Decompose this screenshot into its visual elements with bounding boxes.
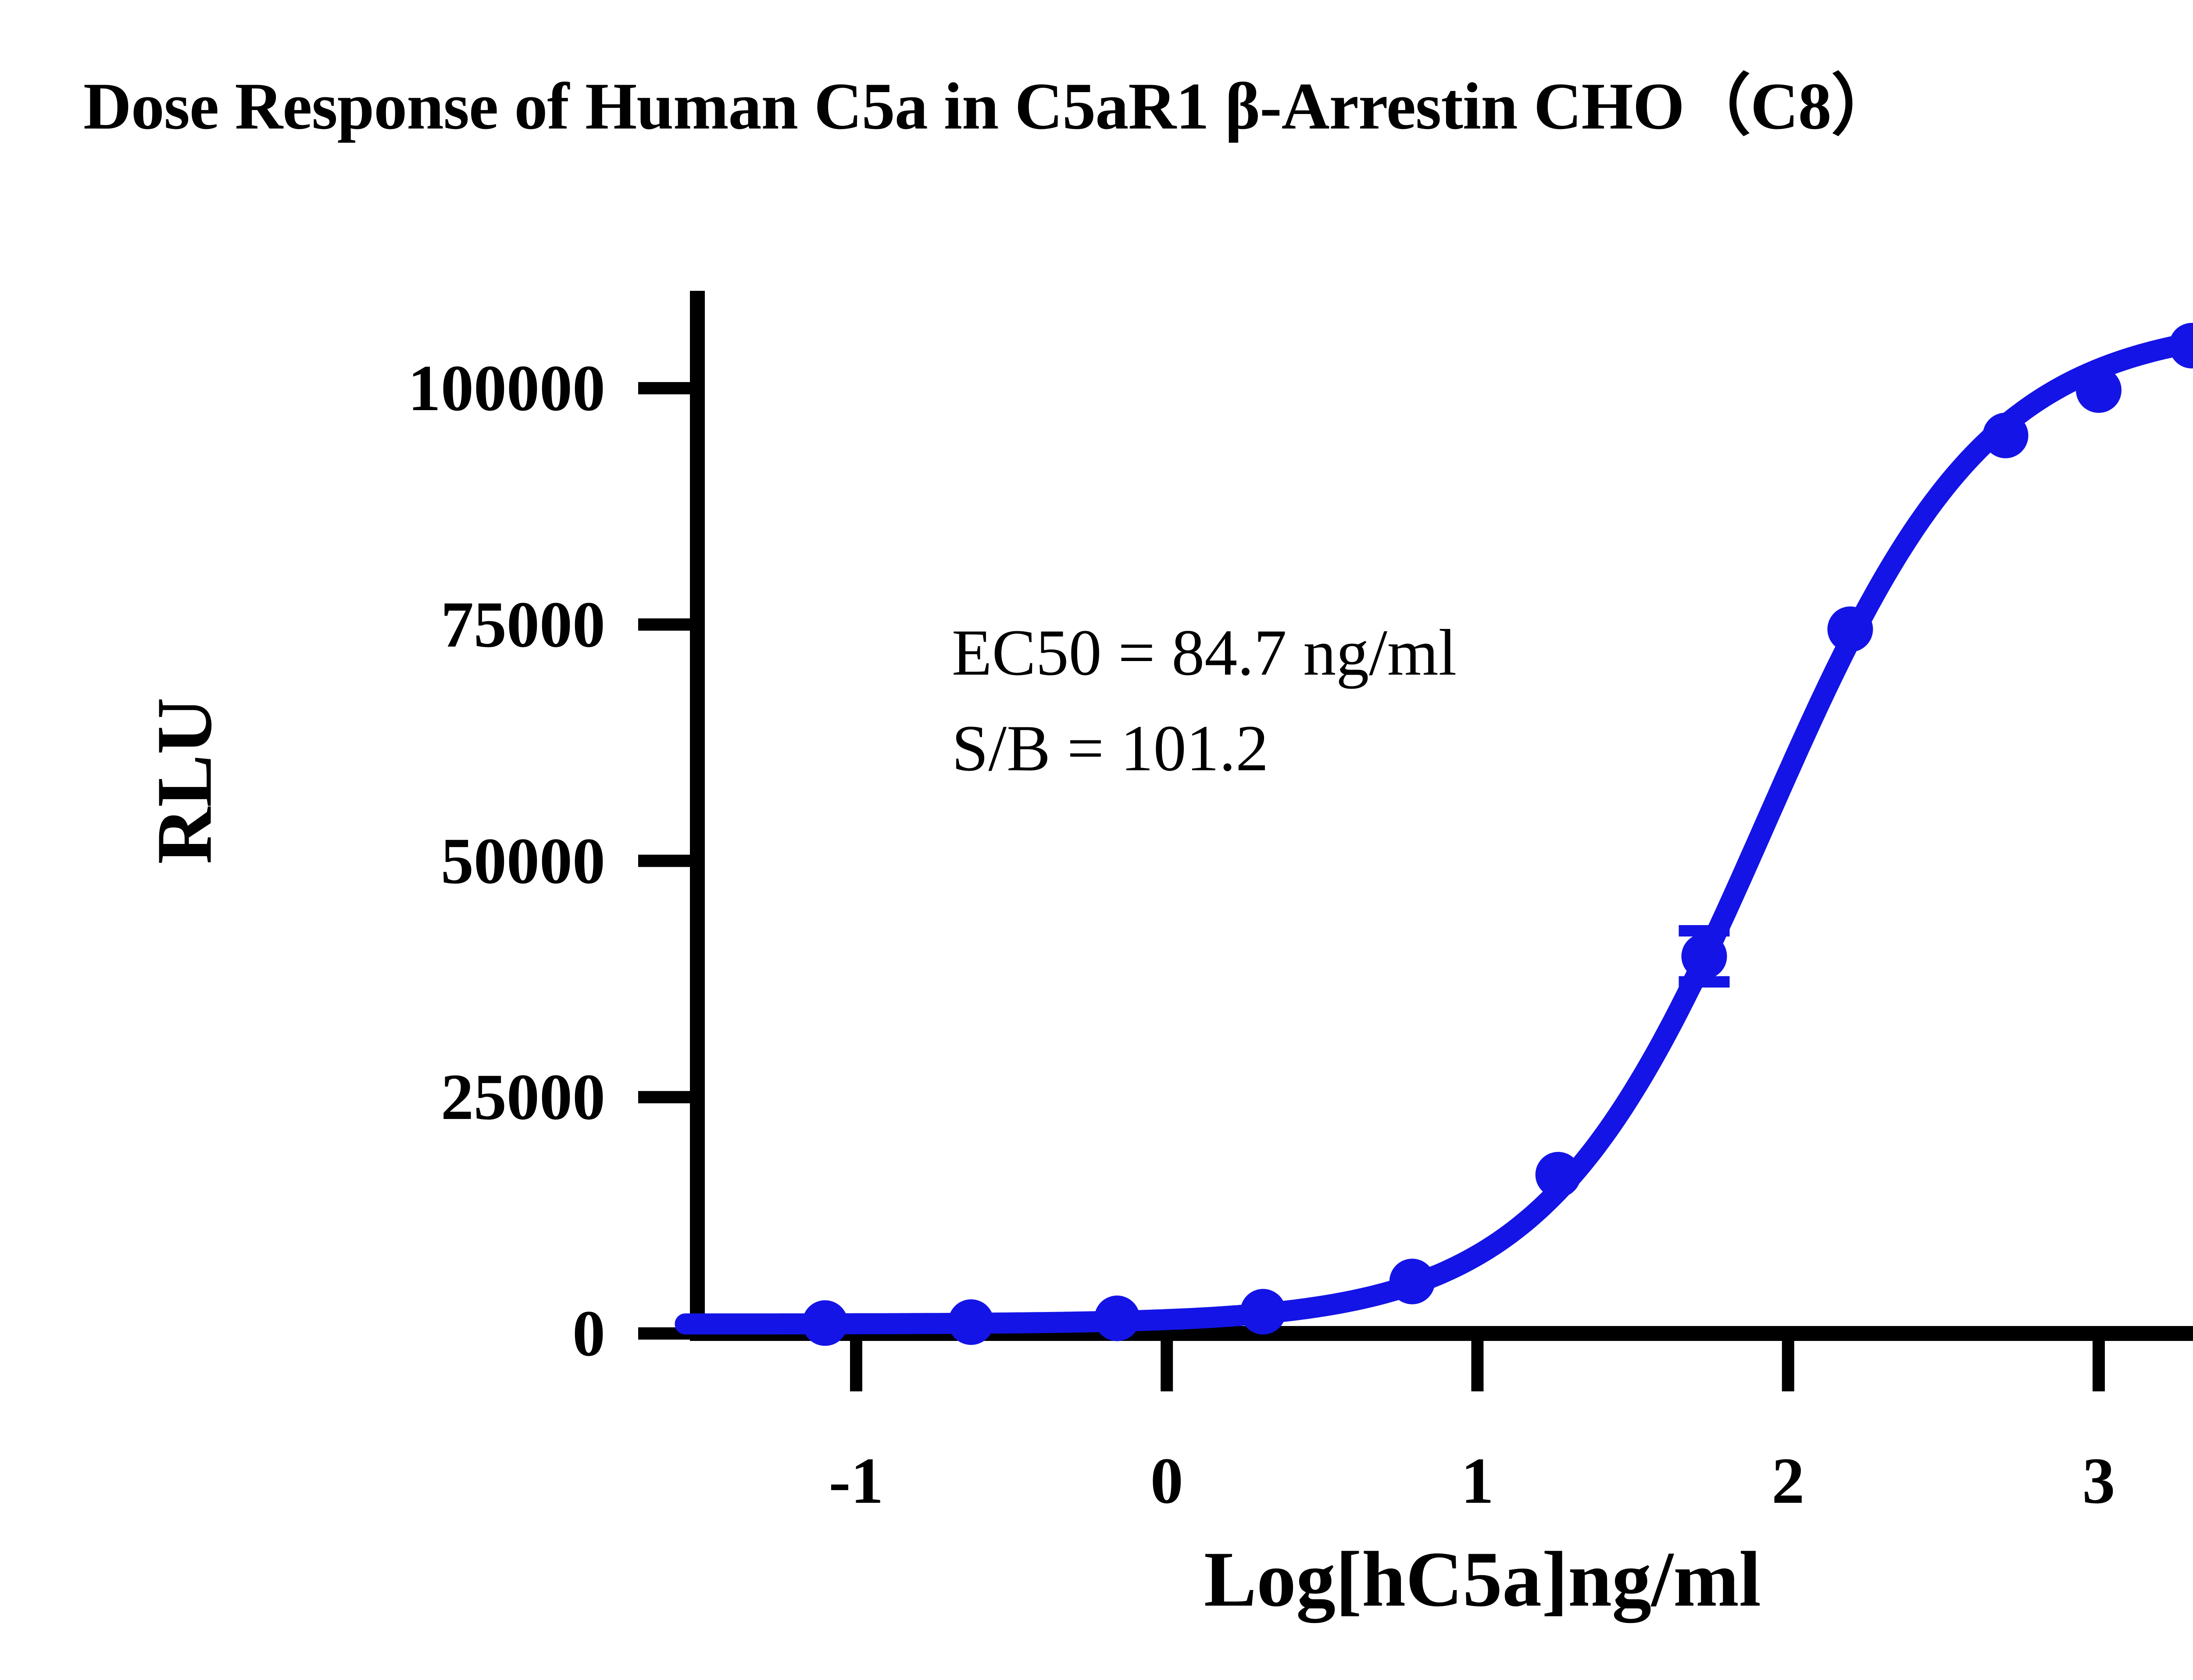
stats-annotation: EC50 = 84.7 ng/ml S/B = 101.2 — [952, 605, 1457, 796]
data-point — [1240, 1289, 1286, 1334]
x-tick-label: 0 — [1150, 1443, 1183, 1519]
y-tick-marks — [638, 388, 697, 1333]
y-tick-label: 100000 — [79, 350, 605, 426]
y-tick-label: 0 — [79, 1296, 605, 1371]
fit-curve — [686, 342, 2193, 1324]
plot-area: 0250005000075000100000 -10123 RLU Log[hC… — [0, 0, 2193, 1680]
x-tick-label: 1 — [1461, 1443, 1494, 1519]
sb-annotation: S/B = 101.2 — [952, 701, 1457, 797]
chart-page: Dose Response of Human C5a in C5aR1 β-Ar… — [0, 0, 2193, 1680]
data-point — [1094, 1296, 1140, 1341]
data-point — [1827, 607, 1873, 652]
data-point — [2076, 367, 2122, 413]
x-axis-title: Log[hC5a]ng/ml — [1204, 1534, 1761, 1625]
data-point — [1983, 413, 2029, 458]
x-tick-marks — [856, 1333, 2099, 1391]
data-point — [1536, 1152, 1581, 1197]
y-tick-label: 75000 — [79, 587, 605, 662]
data-point — [948, 1299, 994, 1345]
data-points — [802, 323, 2193, 1346]
x-tick-label: 2 — [1772, 1443, 1804, 1519]
x-tick-label: -1 — [829, 1443, 884, 1519]
data-point — [1389, 1258, 1435, 1304]
fit-curve-path — [686, 342, 2193, 1324]
data-point — [1682, 933, 1727, 979]
x-tick-label: 3 — [2082, 1443, 2115, 1519]
y-axis-title: RLU — [139, 697, 230, 864]
data-point — [802, 1300, 848, 1346]
ec50-annotation: EC50 = 84.7 ng/ml — [952, 605, 1457, 701]
data-point — [2169, 323, 2193, 368]
y-tick-label: 25000 — [79, 1059, 605, 1135]
